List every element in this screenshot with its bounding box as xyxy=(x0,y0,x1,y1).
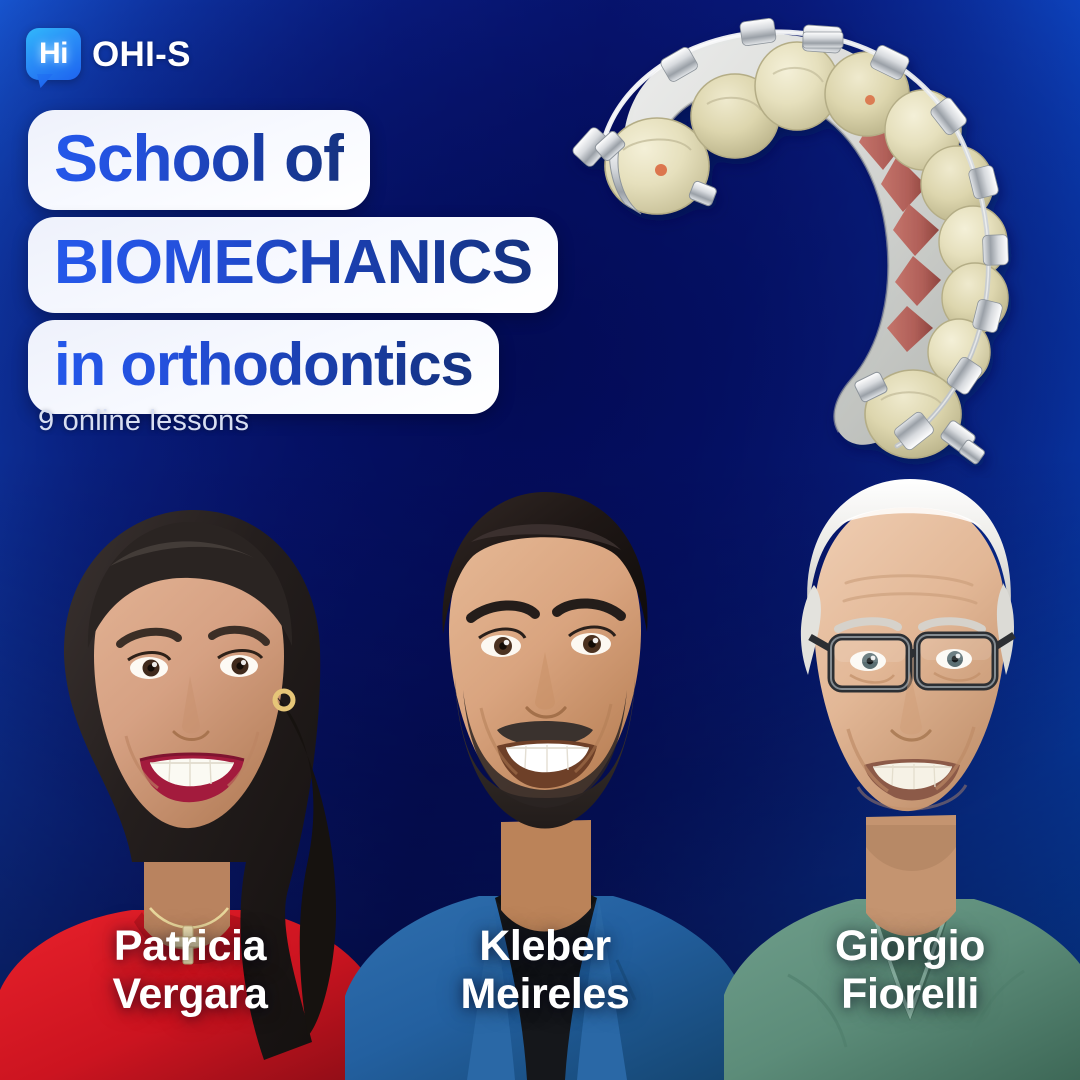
speaker-first-name: Giorgio xyxy=(760,922,1060,970)
speaker-name-kleber-meireles: Kleber Meireles xyxy=(395,922,695,1018)
speaker-name-patricia-vergara: Patricia Vergara xyxy=(40,922,340,1018)
headline-pill-3: in orthodontics xyxy=(28,320,499,414)
headline-pill-2: BIOMECHANICS xyxy=(28,217,558,313)
headline-line-1: School of xyxy=(54,125,344,191)
lessons-count-subtitle: 9 online lessons xyxy=(38,405,249,438)
logo-hi-text: Hi xyxy=(39,39,68,69)
promo-poster: Hi OHI-S School of BIOMECHANICS in ortho… xyxy=(0,0,1080,1080)
headline-line-3: in orthodontics xyxy=(54,335,473,395)
speaker-first-name: Patricia xyxy=(40,922,340,970)
speaker-first-name: Kleber xyxy=(395,922,695,970)
brand-logo[interactable]: Hi OHI-S xyxy=(26,28,191,80)
speaker-names-row: Patricia Vergara Kleber Meireles Giorgio… xyxy=(0,922,1080,1052)
speech-bubble-icon: Hi xyxy=(26,28,81,80)
speaker-last-name: Fiorelli xyxy=(760,970,1060,1018)
dental-arch-image xyxy=(545,8,1080,478)
speaker-last-name: Vergara xyxy=(40,970,340,1018)
headline-line-2: BIOMECHANICS xyxy=(54,232,532,294)
brand-wordmark: OHI-S xyxy=(92,37,191,72)
headline-pill-1: School of xyxy=(28,110,370,210)
headline-block: School of BIOMECHANICS in orthodontics xyxy=(28,110,558,414)
speaker-last-name: Meireles xyxy=(395,970,695,1018)
speaker-name-giorgio-fiorelli: Giorgio Fiorelli xyxy=(760,922,1060,1018)
